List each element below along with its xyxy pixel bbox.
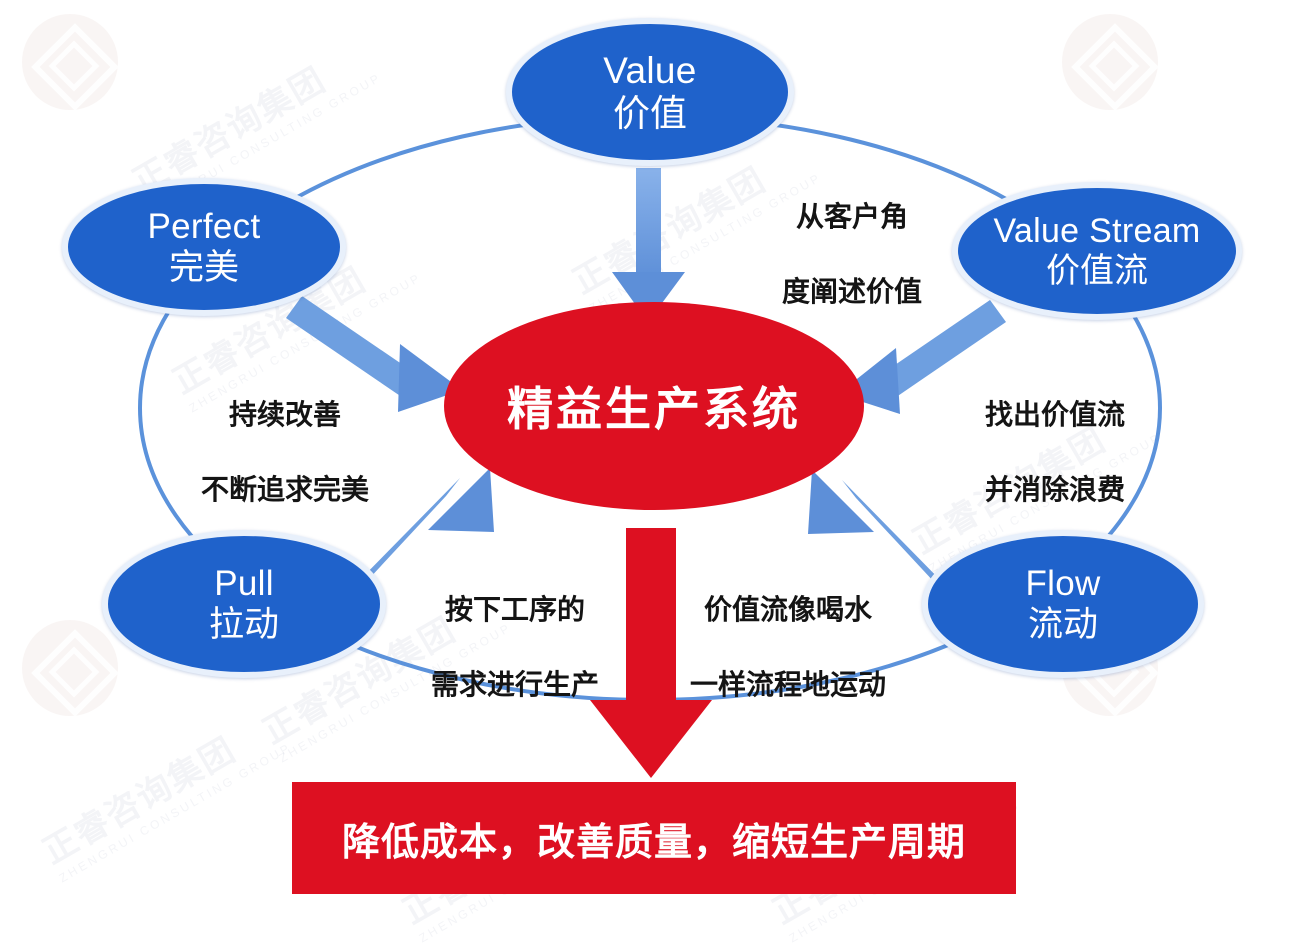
node-value[interactable]: Value 价值 [506,18,794,166]
caption-value-line2: 度阐述价值 [752,273,952,311]
caption-value: 从客户角 度阐述价值 [752,160,952,349]
node-pull-en: Pull [214,564,274,603]
node-perfect-en: Perfect [148,207,261,246]
node-flow-en: Flow [1025,564,1100,603]
lean-production-diagram: 正睿咨询集团 ZHENGRUI CONSULTING GROUP 正睿咨询集团 … [0,0,1300,952]
outcome-banner: 降低成本，改善质量，缩短生产周期 [292,782,1016,894]
node-value-stream[interactable]: Value Stream 价值流 [952,182,1242,320]
caption-value-stream-line1: 找出价值流 [955,396,1155,434]
outcome-banner-text: 降低成本，改善质量，缩短生产周期 [342,811,966,866]
node-flow[interactable]: Flow 流动 [922,530,1204,678]
node-value-stream-en: Value Stream [993,212,1200,250]
node-perfect-cn: 完美 [169,248,239,287]
caption-value-stream: 找出价值流 并消除浪费 [955,358,1155,547]
caption-pull-line1: 按下工序的 [412,591,618,629]
caption-value-line1: 从客户角 [752,198,952,236]
node-pull-cn: 拉动 [209,605,279,644]
node-perfect[interactable]: Perfect 完美 [62,178,346,316]
node-value-en: Value [603,50,696,91]
caption-pull-line2: 需求进行生产 [412,666,618,704]
caption-pull: 按下工序的 需求进行生产 [412,553,618,742]
node-flow-cn: 流动 [1028,605,1098,644]
caption-flow: 价值流像喝水 一样流程地运动 [668,553,908,742]
caption-perfect-line1: 持续改善 [172,396,398,434]
node-value-stream-cn: 价值流 [1046,252,1148,290]
caption-value-stream-line2: 并消除浪费 [955,471,1155,509]
caption-perfect-line2: 不断追求完美 [172,471,398,509]
node-pull[interactable]: Pull 拉动 [102,530,386,678]
caption-flow-line2: 一样流程地运动 [668,666,908,704]
caption-perfect: 持续改善 不断追求完美 [172,358,398,547]
arrow-value-to-core [612,168,685,322]
caption-flow-line1: 价值流像喝水 [668,591,908,629]
node-value-cn: 价值 [613,93,687,134]
core-title: 精益生产系统 [507,373,801,439]
